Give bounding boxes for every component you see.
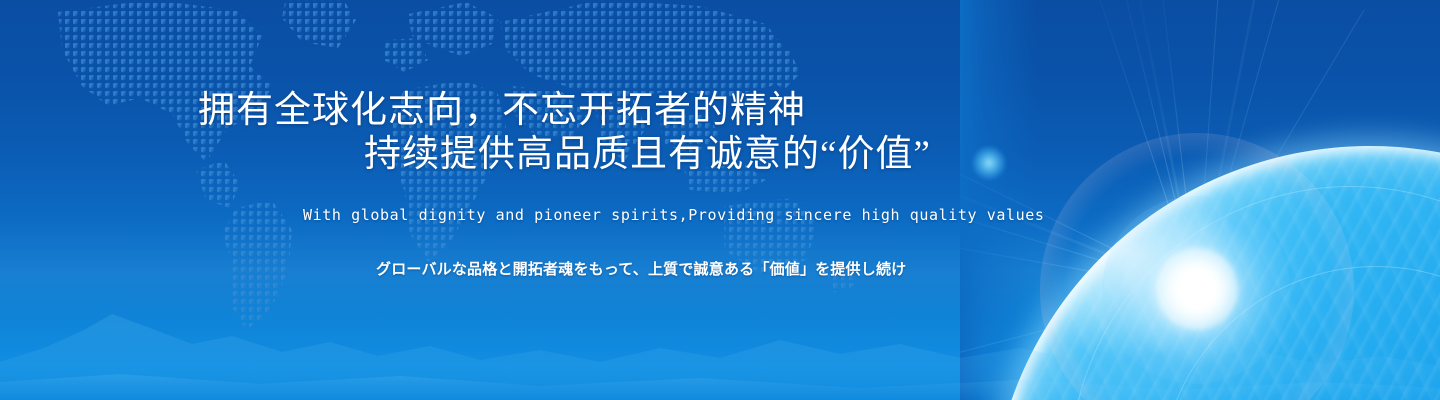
- sun-rays-icon: [960, 0, 1440, 400]
- planet-arc-rings: [990, 146, 1440, 400]
- planet-body: [990, 146, 1440, 400]
- headline-line-1: 拥有全球化志向，不忘开拓者的精神: [198, 92, 806, 129]
- space-scene: [960, 0, 1440, 400]
- subtitle-japanese: グローバルな品格と開拓者魂をもって、上質で誠意ある「価値」を提供し続け: [376, 258, 906, 279]
- planet-group: [960, 0, 1440, 400]
- mountain-silhouette-icon: [0, 270, 1440, 400]
- subtitle-english: With global dignity and pioneer spirits,…: [303, 206, 1045, 224]
- planet-atmosphere-rim: [990, 146, 1440, 400]
- dotted-world-map-icon: [0, 0, 880, 334]
- sky-sheen: [0, 0, 1440, 400]
- lens-flare-dot-icon: [972, 146, 1006, 180]
- scene-blend-overlay: [960, 0, 1440, 400]
- sun-core-icon: [1156, 248, 1238, 330]
- sun-glow-icon: [1102, 196, 1290, 384]
- sun-halo-icon: [1040, 133, 1354, 400]
- headline-line-2: 持续提供高品质且有诚意的“价值”: [364, 136, 931, 173]
- hero-banner: 拥有全球化志向，不忘开拓者的精神 持续提供高品质且有诚意的“价值” With g…: [0, 0, 1440, 400]
- copy-block: 拥有全球化志向，不忘开拓者的精神 持续提供高品质且有诚意的“价值” With g…: [0, 0, 1000, 400]
- planet-cloud-texture: [990, 146, 1440, 400]
